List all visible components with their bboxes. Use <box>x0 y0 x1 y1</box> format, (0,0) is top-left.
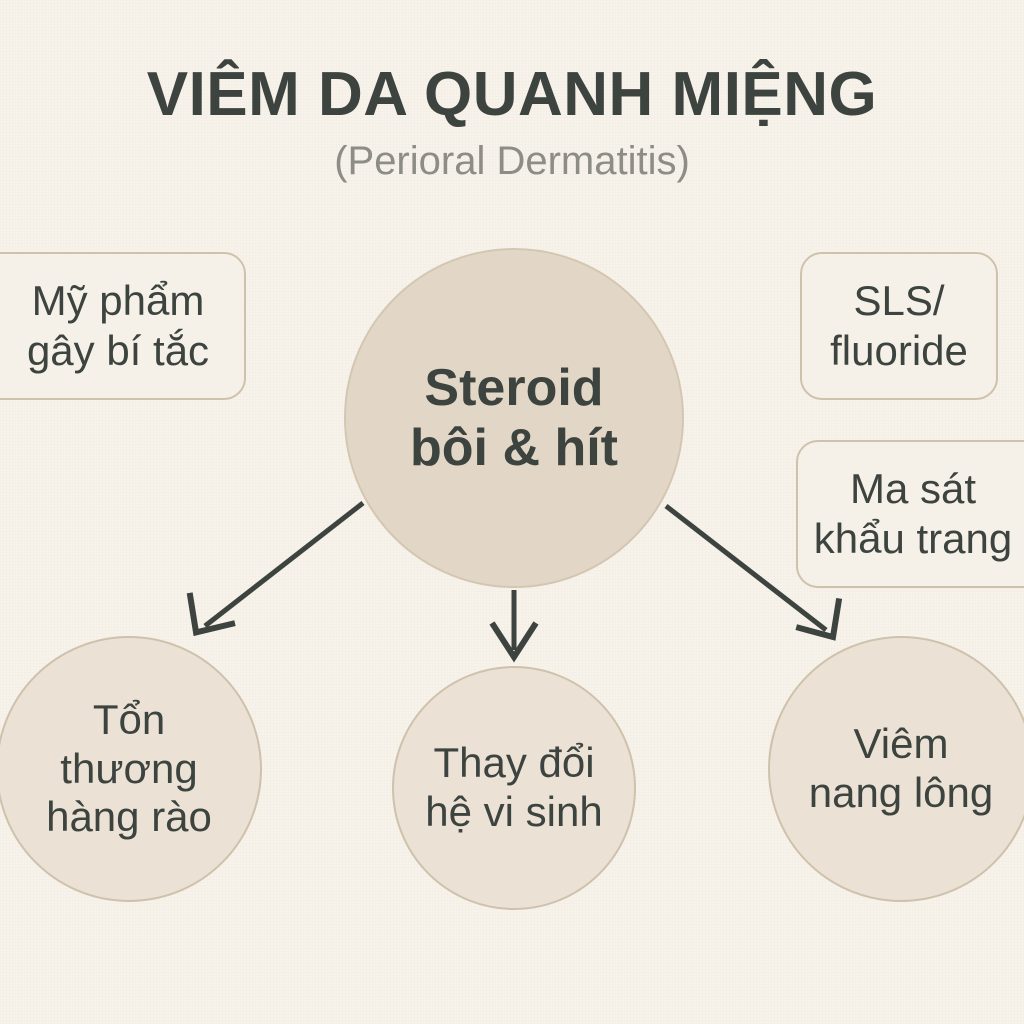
trigger-box-mask-friction-label: Ma sát khẩu trang <box>800 464 1024 565</box>
arrow-center-to-middle <box>492 590 536 657</box>
effect-node-folliculitis[interactable]: Viêm nang lông <box>768 636 1024 902</box>
page-subtitle: (Perioral Dermatitis) <box>0 139 1024 183</box>
effect-node-folliculitis-label: Viêm nang lông <box>801 720 1002 817</box>
effect-node-barrier-damage[interactable]: Tổn thương hàng rào <box>0 636 262 902</box>
trigger-box-sls-fluoride[interactable]: SLS/ fluoride <box>800 252 998 400</box>
trigger-box-sls-fluoride-label: SLS/ fluoride <box>816 276 982 377</box>
trigger-box-cosmetics-label: Mỹ phẩm gây bí tắc <box>0 276 223 377</box>
effect-node-microbiome-change[interactable]: Thay đổi hệ vi sinh <box>392 666 636 910</box>
effect-node-microbiome-change-label: Thay đổi hệ vi sinh <box>417 739 610 836</box>
center-node-label: Steroid bôi & hít <box>386 358 642 479</box>
center-node-steroid[interactable]: Steroid bôi & hít <box>344 248 684 588</box>
arrow-center-to-left <box>188 503 363 632</box>
trigger-box-mask-friction[interactable]: Ma sát khẩu trang <box>796 440 1024 588</box>
trigger-box-cosmetics[interactable]: Mỹ phẩm gây bí tắc <box>0 252 246 400</box>
title-block: VIÊM DA QUANH MIỆNG (Perioral Dermatitis… <box>0 62 1024 183</box>
effect-node-barrier-damage-label: Tổn thương hàng rào <box>38 696 220 842</box>
infographic-canvas: VIÊM DA QUANH MIỆNG (Perioral Dermatitis… <box>0 0 1024 1024</box>
page-title: VIÊM DA QUANH MIỆNG <box>0 62 1024 129</box>
